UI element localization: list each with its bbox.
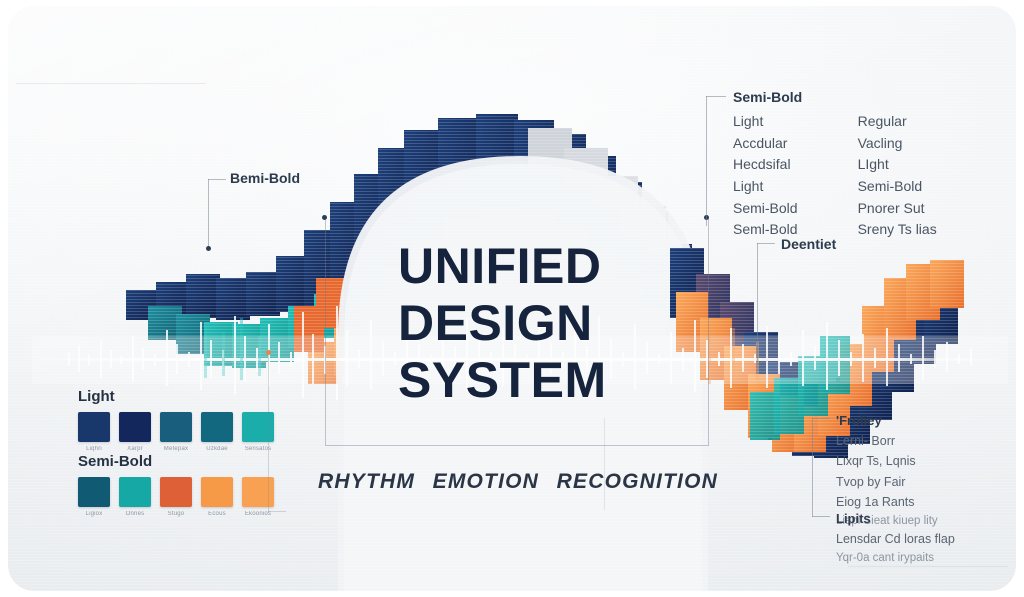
type-specimen-columns: Light Accdular Hecdsifal Light Semi-Bold… — [733, 111, 937, 241]
type-item: Regular — [858, 111, 937, 133]
block-item: Lensdar Cd loras flap — [836, 529, 955, 549]
annotation-block-lipits: Lipits Lensdar Cd loras flap Yqr-0a cant… — [836, 508, 955, 568]
swatch-caption: Metepax — [160, 446, 192, 452]
type-item: Sreny Ts lias — [858, 219, 937, 241]
swatch-cell[interactable]: Onnes — [119, 477, 151, 517]
swatch-caption: Ligiox — [78, 511, 110, 517]
annotation-deentiet: Deentiet — [781, 236, 836, 252]
swatch-cell[interactable]: Ecous — [201, 477, 233, 517]
lead-line-bemi-bold-h — [208, 179, 226, 180]
swatch-caption: Xarpr — [119, 446, 151, 452]
swatch-chip — [78, 412, 110, 442]
type-column-1: Light Accdular Hecdsifal Light Semi-Bold… — [733, 111, 798, 241]
swatch-cell[interactable]: Xarpr — [119, 412, 151, 452]
swatch-cell[interactable]: Stugo — [160, 477, 192, 517]
swatch-group-light: Light Liqhri Xarpr Metepax Uzkdae Sensat… — [78, 388, 274, 452]
screenshot-root: UNIFIED DESIGN SYSTEM RHYTHM EMOTION REC… — [0, 0, 1024, 597]
headline-line-2: DESIGN — [398, 295, 728, 352]
annotation-bemi-bold: Bemi-Bold — [230, 170, 300, 186]
subtitle-row: RHYTHM EMOTION RECOGNITION — [318, 470, 718, 494]
type-item: Accdular — [733, 133, 798, 155]
type-item: Light — [733, 111, 798, 133]
bracket-right-v — [604, 418, 605, 510]
subtitle-item-rhythm: RHYTHM — [318, 470, 415, 494]
swatch-caption: Sensatos — [242, 446, 274, 452]
block-item: Tvop by Fair — [836, 472, 938, 492]
swatch-chip — [160, 412, 192, 442]
swatch-chip — [242, 412, 274, 442]
type-item: LIght — [858, 154, 937, 176]
swatch-cell[interactable]: Metepax — [160, 412, 192, 452]
swatch-group-title: Semi-Bold — [78, 453, 274, 470]
lead-dot-swatch — [266, 350, 271, 355]
swatch-caption: Onnes — [119, 511, 151, 517]
lead-dot-bemi-bold — [206, 246, 211, 251]
swatch-chip — [160, 477, 192, 507]
lead-line-br2-h — [812, 516, 830, 517]
swatch-caption: Liqhri — [78, 446, 110, 452]
swatch-chip — [242, 477, 274, 507]
swatch-caption: Uzkdae — [201, 446, 233, 452]
headline-line-1: UNIFIED — [398, 238, 728, 295]
swatch-cell[interactable]: Uzkdae — [201, 412, 233, 452]
type-item: Pnorer Sut — [858, 198, 937, 220]
lead-line-br1-h — [812, 418, 830, 419]
block-note: Yqr-0a cant irypaits — [836, 549, 955, 568]
type-item: Light — [733, 176, 798, 198]
type-column-2: Regular Vacling LIght Semi-Bold Pnorer S… — [858, 111, 937, 241]
swatch-chip — [78, 477, 110, 507]
lead-line-deentiet-v — [757, 243, 758, 361]
swatch-chip — [201, 477, 233, 507]
swatch-caption: Stugo — [160, 511, 192, 517]
swatch-caption: Ecous — [201, 511, 233, 517]
block-item: Lixqr Ts, Lqnis — [836, 451, 938, 471]
subtitle-item-recognition: RECOGNITION — [557, 470, 718, 494]
lead-line-br-v — [812, 418, 813, 517]
lead-line-bemi-bold-v — [208, 179, 209, 249]
block-heading: 'Froliey — [836, 410, 938, 431]
lead-line-deentiet-h — [757, 243, 775, 244]
lead-line-swatch-v — [268, 352, 269, 512]
lead-line-semibold-h — [706, 96, 726, 97]
annotation-semi-bold-title: Semi-Bold — [733, 89, 802, 105]
type-item: Semi-Bold — [858, 176, 937, 198]
swatch-row: Liqhri Xarpr Metepax Uzkdae Sensatos — [78, 412, 274, 452]
swatch-cell[interactable]: Sensatos — [242, 412, 274, 452]
lead-line-swatch-h — [268, 511, 286, 512]
swatch-chip — [119, 412, 151, 442]
page-title: UNIFIED DESIGN SYSTEM — [398, 238, 728, 409]
block-item: Lerni- Borr — [836, 431, 938, 451]
type-item: Semi-Bold — [733, 198, 798, 220]
frame-dot-left — [322, 215, 327, 220]
swatch-group-semi-bold: Semi-Bold Ligiox Onnes Stugo Ecous Ekoon… — [78, 453, 274, 517]
subtitle-item-emotion: EMOTION — [433, 470, 539, 494]
swatch-cell[interactable]: Liqhri — [78, 412, 110, 452]
block-heading: Lipits — [836, 508, 955, 529]
swatch-chip — [119, 477, 151, 507]
headline-line-3: SYSTEM — [398, 352, 728, 409]
swatch-row: Ligiox Onnes Stugo Ecous Ekoonios — [78, 477, 274, 517]
lead-line-semibold-v — [706, 96, 707, 226]
type-item: Vacling — [858, 133, 937, 155]
swatch-cell[interactable]: Ligiox — [78, 477, 110, 517]
type-item: Hecdsifal — [733, 154, 798, 176]
swatch-chip — [201, 412, 233, 442]
swatch-group-title: Light — [78, 388, 274, 405]
